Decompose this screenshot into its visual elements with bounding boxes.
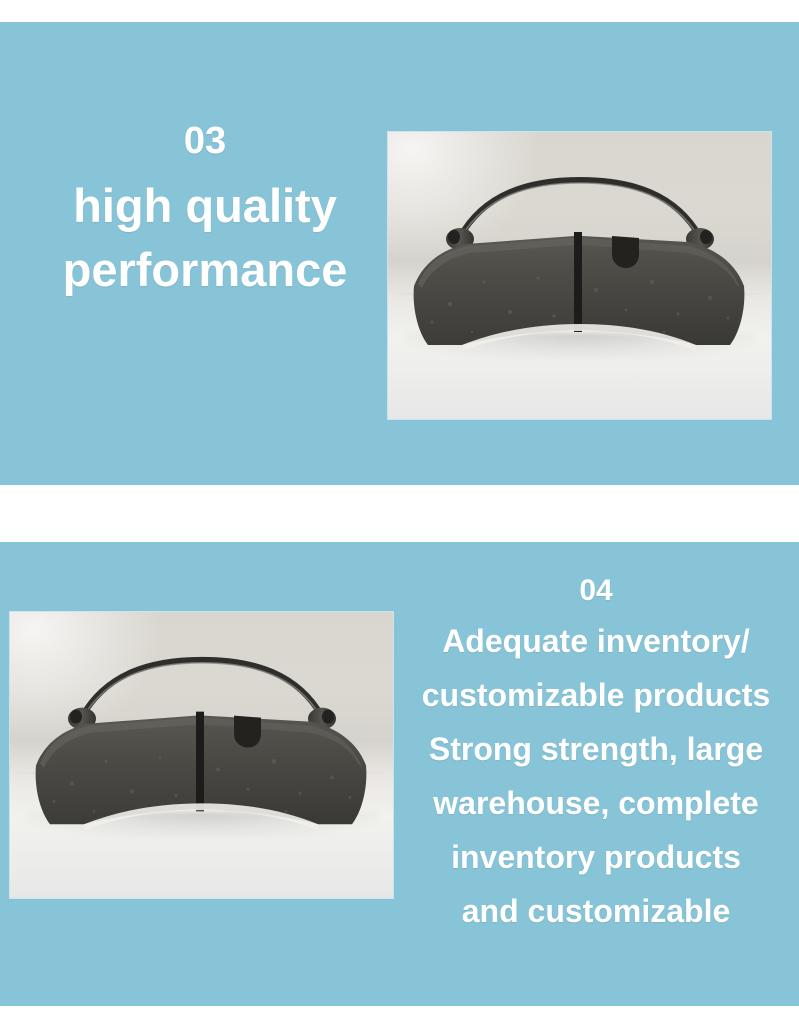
brake-pad-illustration: [388, 132, 771, 419]
section-04-text-block: 04 Adequate inventory/ customizable prod…: [400, 576, 792, 927]
section-03-heading-line-1: high quality: [22, 182, 388, 229]
section-04-text-line-2: customizable products: [400, 679, 792, 711]
brake-pad-illustration: [10, 612, 393, 898]
section-03-text-block: 03 high quality performance: [22, 122, 388, 310]
section-04-text-line-3: Strong strength, large: [400, 733, 792, 765]
section-03-heading-line-2: performance: [22, 246, 388, 293]
section-04-text-line-6: and customizable: [400, 895, 792, 927]
section-04-text-line-1: Adequate inventory/: [400, 625, 792, 657]
product-detail-page: 03 high quality performance: [0, 0, 799, 1024]
section-04-number: 04: [400, 576, 792, 606]
section-04-product-photo: [10, 612, 393, 898]
section-03-product-photo: [388, 132, 771, 419]
section-04-text-line-4: warehouse, complete: [400, 787, 792, 819]
section-04-text-line-5: inventory products: [400, 841, 792, 873]
section-03-number: 03: [22, 122, 388, 160]
